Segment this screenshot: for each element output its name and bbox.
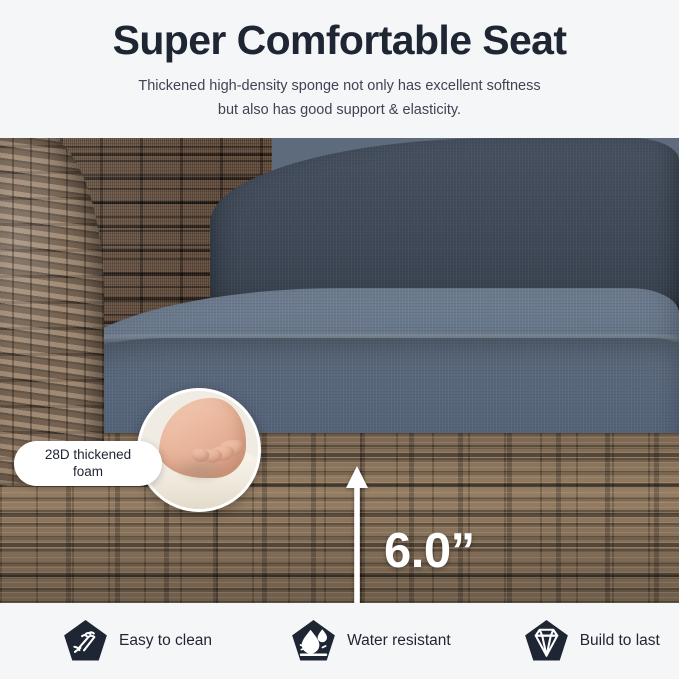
feature-easy-to-clean: Easy to clean <box>62 618 212 665</box>
foam-callout-line-2: foam <box>73 464 103 479</box>
water-drop-icon <box>290 618 337 665</box>
page-subtitle: Thickened high-density sponge not only h… <box>138 75 540 122</box>
product-feature-panel: Super Comfortable Seat Thickened high-de… <box>0 0 679 679</box>
dimension-label: 6.0” <box>384 523 475 579</box>
feature-label-easy-to-clean: Easy to clean <box>119 632 212 650</box>
foam-indentation <box>168 452 234 487</box>
wicker-arm <box>0 138 104 486</box>
dimension-arrow-icon <box>339 464 375 603</box>
feature-build-to-last: Build to last <box>523 618 660 665</box>
foam-callout-text: 28D thickened foam <box>33 447 143 481</box>
foam-callout-line-1: 28D thickened <box>45 447 131 462</box>
subtitle-line-2: but also has good support & elasticity. <box>138 99 540 122</box>
feature-water-resistant: Water resistant <box>290 618 451 665</box>
diamond-icon <box>523 618 570 665</box>
feature-label-water-resistant: Water resistant <box>347 632 451 650</box>
feature-bar: Easy to clean Water resistant <box>0 603 679 679</box>
product-photo: 28D thickened foam 6.0” <box>0 138 679 603</box>
header: Super Comfortable Seat Thickened high-de… <box>0 0 679 138</box>
wiping-hand-icon <box>62 618 109 665</box>
feature-label-build-to-last: Build to last <box>580 632 660 650</box>
page-title: Super Comfortable Seat <box>113 16 567 64</box>
foam-callout-badge: 28D thickened foam <box>14 441 162 486</box>
subtitle-line-1: Thickened high-density sponge not only h… <box>138 75 540 98</box>
